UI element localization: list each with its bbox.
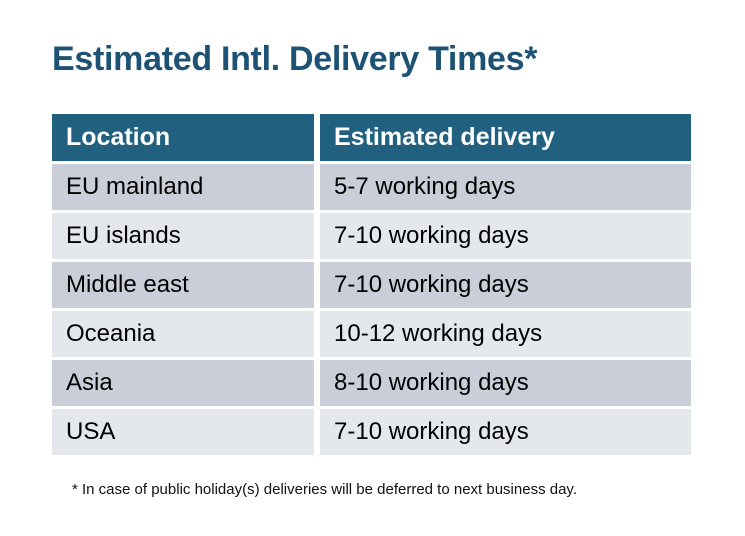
cell-delivery: 8-10 working days — [320, 360, 691, 406]
cell-delivery: 7-10 working days — [320, 262, 691, 308]
cell-location: EU mainland — [52, 164, 314, 210]
table-row: EU mainland 5-7 working days — [52, 164, 691, 210]
cell-location: USA — [52, 409, 314, 455]
table-row: Oceania 10-12 working days — [52, 311, 691, 357]
cell-delivery: 7-10 working days — [320, 409, 691, 455]
column-header-location: Location — [52, 114, 314, 161]
cell-location: EU islands — [52, 213, 314, 259]
table-row: EU islands 7-10 working days — [52, 213, 691, 259]
cell-delivery: 10-12 working days — [320, 311, 691, 357]
delivery-times-page: Estimated Intl. Delivery Times* Location… — [0, 0, 745, 536]
cell-location: Oceania — [52, 311, 314, 357]
table-row: Middle east 7-10 working days — [52, 262, 691, 308]
column-header-estimated-delivery: Estimated delivery — [320, 114, 691, 161]
cell-delivery: 7-10 working days — [320, 213, 691, 259]
table-row: USA 7-10 working days — [52, 409, 691, 455]
table-row: Asia 8-10 working days — [52, 360, 691, 406]
cell-delivery: 5-7 working days — [320, 164, 691, 210]
footnote-text: * In case of public holiday(s) deliverie… — [72, 480, 577, 500]
cell-location: Middle east — [52, 262, 314, 308]
delivery-times-table: Location Estimated delivery EU mainland … — [52, 114, 691, 455]
table-header-row: Location Estimated delivery — [52, 114, 691, 161]
cell-location: Asia — [52, 360, 314, 406]
page-title: Estimated Intl. Delivery Times* — [52, 38, 537, 80]
